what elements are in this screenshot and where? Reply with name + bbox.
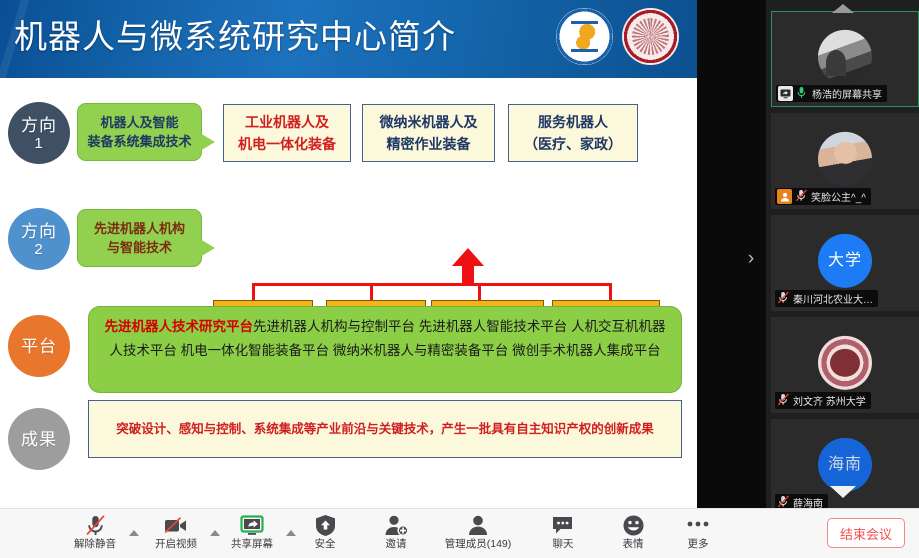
slide-header-band: 机器人与微系统研究中心简介 [0, 0, 697, 78]
box-line-1: 服务机器人 [538, 111, 608, 133]
stage-circle-direction-1: 方向 1 [8, 102, 70, 164]
chevron-right-icon[interactable]: › [741, 248, 761, 270]
box-line-2: 机电一体化装备 [238, 133, 336, 155]
callout-direction-2: 先进机器人机构 与智能技术 [77, 209, 202, 267]
manage-participants-label: 管理成员(149) [445, 538, 512, 550]
stage-label: 方向 [21, 221, 57, 242]
host-badge-icon [777, 189, 792, 204]
microphone-muted-icon [84, 513, 107, 537]
mute-button[interactable]: 解除静音 [62, 513, 128, 557]
stage-label: 方向 [21, 115, 57, 136]
participant-name: 笑脸公主^_^ [811, 189, 866, 204]
stage-circle-direction-2: 方向 2 [8, 208, 70, 270]
participant-label: 杨浩的屏幕共享 [776, 85, 887, 102]
ellipsis-icon [685, 513, 711, 537]
person-add-icon [384, 513, 409, 537]
manage-participants-button[interactable]: 管理成员(149) [433, 513, 523, 557]
invite-label: 邀请 [386, 538, 407, 550]
box-line-1: 微纳米机器人及 [380, 111, 478, 133]
participant-name: 秦川河北农业大… [793, 291, 873, 306]
platform-description-box: 先进机器人技术研究平台先进机器人机构与控制平台 先进机器人智能技术平台 人机交互… [88, 306, 682, 393]
microphone-icon [796, 86, 809, 101]
presentation-slide: 机器人与微系统研究中心简介 方向 1 方向 2 平台 成果 [0, 0, 697, 508]
security-label: 安全 [315, 538, 336, 550]
start-video-label: 开启视频 [155, 538, 197, 550]
participants-icon [467, 513, 489, 537]
participant-tile-4[interactable]: 刘文齐 苏州大学 [771, 317, 919, 413]
smiley-icon [622, 513, 645, 537]
share-screen-button[interactable]: 共享屏幕 [219, 513, 285, 557]
connector-stem-4 [609, 283, 612, 301]
stage-circle-platform: 平台 [8, 315, 70, 377]
avatar [818, 30, 872, 84]
results-text: 突破设计、感知与控制、系统集成等产业前沿与关键技术，产生一批具有自主知识产权的创… [116, 419, 654, 439]
chat-button[interactable]: 聊天 [530, 513, 596, 557]
connector-stem-1 [252, 283, 255, 301]
security-button[interactable]: 安全 [292, 513, 358, 557]
end-meeting-button[interactable]: 结束会议 [827, 518, 905, 548]
screen-share-icon [239, 513, 265, 537]
stage-label: 成果 [21, 429, 57, 450]
callout-line-2: 装备系统集成技术 [87, 132, 191, 151]
box-line-2: 精密作业装备 [387, 133, 471, 155]
participant-name: 杨浩的屏幕共享 [812, 86, 882, 101]
mute-options-caret-icon[interactable] [128, 527, 140, 539]
start-video-button[interactable]: 开启视频 [143, 513, 209, 557]
invite-button[interactable]: 邀请 [363, 513, 429, 557]
topic-box-industrial-robot: 工业机器人及 机电一体化装备 [223, 104, 351, 162]
stage-circle-results: 成果 [8, 408, 70, 470]
participant-video-sidebar[interactable]: 杨浩的屏幕共享 笑脸公主^_^ 大学 秦川河北农 [766, 0, 919, 508]
scroll-down-arrow-icon[interactable] [766, 482, 919, 502]
university-logo-left-icon [556, 8, 613, 65]
share-screen-label: 共享屏幕 [231, 538, 273, 550]
platform-highlight-text: 先进机器人技术研究平台 [104, 319, 253, 334]
participant-label: 刘文齐 苏州大学 [775, 392, 871, 409]
box-line-1: 工业机器人及 [245, 111, 329, 133]
participant-name: 刘文齐 苏州大学 [793, 393, 866, 408]
stage-number: 1 [34, 136, 43, 152]
reactions-label: 表情 [623, 538, 644, 550]
chat-label: 聊天 [553, 538, 574, 550]
results-description-box: 突破设计、感知与控制、系统集成等产业前沿与关键技术，产生一批具有自主知识产权的创… [88, 400, 682, 458]
microphone-muted-icon [795, 189, 808, 204]
callout-line-1: 先进机器人机构 [94, 219, 185, 238]
avatar [818, 336, 872, 390]
participant-tile-screen-share[interactable]: 杨浩的屏幕共享 [771, 11, 919, 107]
callout-line-2: 与智能技术 [107, 238, 172, 257]
page-title: 机器人与微系统研究中心简介 [14, 17, 456, 57]
participant-label: 笑脸公主^_^ [775, 188, 871, 205]
more-label: 更多 [688, 538, 709, 550]
avatar [818, 132, 872, 186]
up-arrow-head-icon [452, 248, 484, 266]
avatar: 大学 [818, 234, 872, 288]
connector-stem-2 [370, 283, 373, 301]
participant-tile-host[interactable]: 笑脸公主^_^ [771, 113, 919, 209]
stage-label: 平台 [21, 336, 57, 357]
stage-number: 2 [34, 242, 43, 258]
callout-direction-1: 机器人及智能 装备系统集成技术 [77, 103, 202, 161]
video-camera-off-icon [163, 513, 189, 537]
topic-box-service-robot: 服务机器人 （医疗、家政） [508, 104, 638, 162]
up-arrow-stem [462, 264, 474, 286]
microphone-muted-icon [777, 393, 790, 408]
meeting-toolbar: 解除静音 开启视频 共享屏幕 [0, 508, 919, 558]
shared-screen-area[interactable]: 机器人与微系统研究中心简介 方向 1 方向 2 平台 成果 [0, 0, 697, 508]
microphone-muted-icon [777, 291, 790, 306]
scroll-up-arrow-icon[interactable] [766, 0, 919, 16]
university-logo-right-icon [622, 8, 679, 65]
screen-share-badge-icon [778, 86, 793, 101]
connector-horizontal-bar [252, 283, 612, 286]
more-button[interactable]: 更多 [665, 513, 731, 557]
mute-label: 解除静音 [74, 538, 116, 550]
topic-box-micro-nano-robot: 微纳米机器人及 精密作业装备 [362, 104, 495, 162]
shield-icon [315, 513, 336, 537]
box-line-2: （医疗、家政） [524, 133, 622, 155]
participant-tile-3[interactable]: 大学 秦川河北农业大… [771, 215, 919, 311]
slide-diagram: 方向 1 方向 2 平台 成果 机器人及智能 装备系统集成技术 [0, 78, 697, 508]
chat-bubble-icon [551, 513, 575, 537]
callout-line-1: 机器人及智能 [100, 113, 178, 132]
reactions-button[interactable]: 表情 [600, 513, 666, 557]
zoom-meeting-window: 机器人与微系统研究中心简介 方向 1 方向 2 平台 成果 [0, 0, 919, 558]
participant-label: 秦川河北农业大… [775, 290, 878, 307]
connector-stem-3 [478, 283, 481, 301]
